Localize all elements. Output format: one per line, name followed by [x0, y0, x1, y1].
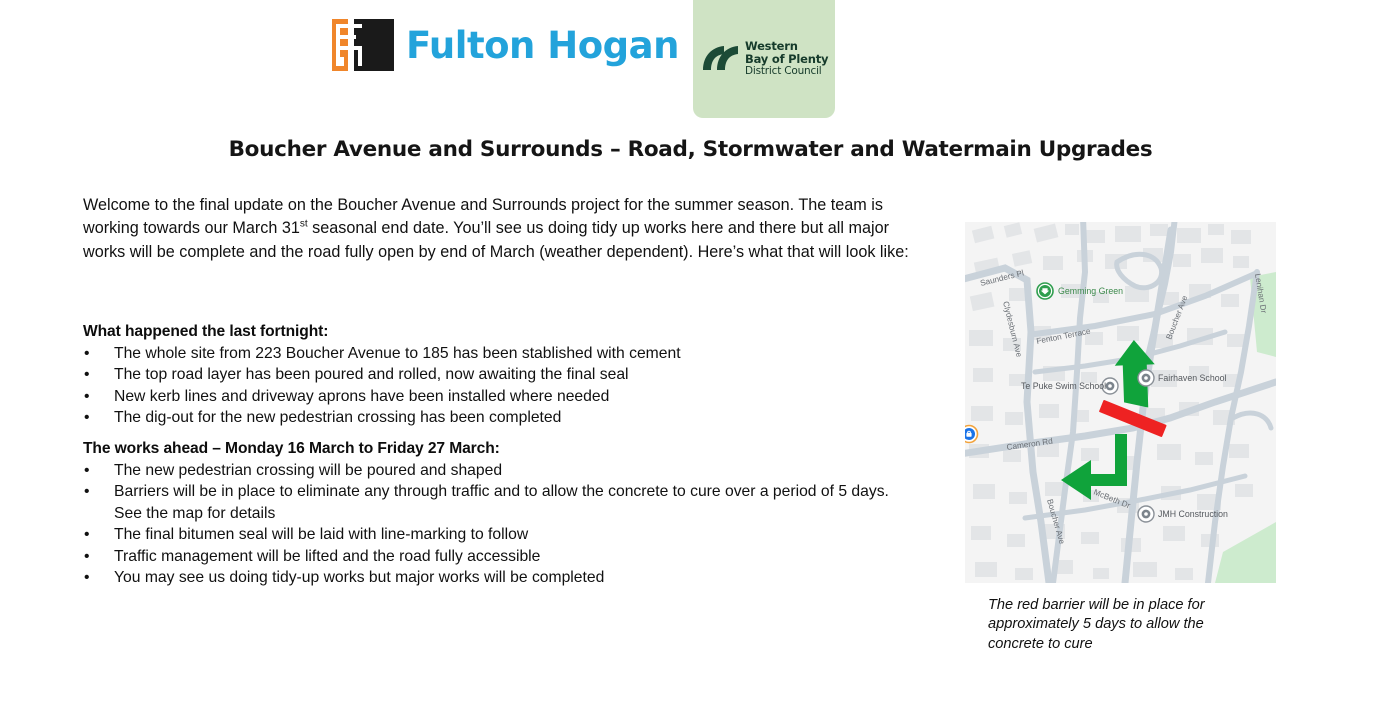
fulton-hogan-monogram-icon: [332, 19, 394, 71]
list-item-text: The whole site from 223 Boucher Avenue t…: [114, 345, 681, 362]
bullet-icon: •: [84, 481, 94, 502]
list-item: • New kerb lines and driveway aprons hav…: [83, 386, 911, 407]
map-graphic: Saunders Pl Clydesburn Ave Fenton Terrac…: [965, 222, 1276, 583]
logo-header: Fulton Hogan Western Bay of Plenty Distr…: [0, 0, 1381, 120]
list-item: • Traffic management will be lifted and …: [83, 546, 911, 567]
list-item-text: Barriers will be in place to eliminate a…: [114, 483, 889, 521]
fulton-hogan-logo: Fulton Hogan: [332, 18, 679, 72]
section-heading: What happened the last fortnight:: [83, 323, 911, 341]
intro-ordinal-suffix: st: [300, 219, 308, 230]
list-item-text: The dig-out for the new pedestrian cross…: [114, 409, 561, 426]
poi-label: Fairhaven School: [1158, 373, 1227, 383]
list-item: • The top road layer has been poured and…: [83, 364, 911, 385]
document-page: Fulton Hogan Western Bay of Plenty Distr…: [0, 0, 1381, 711]
bullet-icon: •: [84, 343, 94, 364]
poi-label: Gemming Green: [1058, 286, 1123, 296]
detour-map: Saunders Pl Clydesburn Ave Fenton Terrac…: [965, 222, 1276, 583]
map-caption: The red barrier will be in place for app…: [988, 596, 1248, 654]
section-last-fortnight: What happened the last fortnight: • The …: [83, 323, 911, 429]
list-item: • The final bitumen seal will be laid wi…: [83, 524, 911, 545]
double-chevron-icon: [701, 44, 739, 74]
body-content: Welcome to the final update on the Bouch…: [83, 194, 911, 264]
section-heading: The works ahead – Monday 16 March to Fri…: [83, 440, 911, 458]
bullet-icon: •: [84, 407, 94, 428]
bullet-icon: •: [84, 546, 94, 567]
list-item-text: Traffic management will be lifted and th…: [114, 548, 540, 565]
business-marker: [1138, 506, 1154, 522]
list-item-text: New kerb lines and driveway aprons have …: [114, 388, 609, 405]
poi-label: JMH Construction: [1158, 509, 1228, 519]
list-item: • Barriers will be in place to eliminate…: [83, 481, 911, 524]
poi-label: Te Puke Swim School: [1021, 381, 1106, 391]
list-item: • The dig-out for the new pedestrian cro…: [83, 407, 911, 428]
list-item-text: The top road layer has been poured and r…: [114, 366, 629, 383]
list-item: • The whole site from 223 Boucher Avenue…: [83, 343, 911, 364]
bullet-icon: •: [84, 524, 94, 545]
list-item: • You may see us doing tidy-up works but…: [83, 567, 911, 588]
bullet-list: • The new pedestrian crossing will be po…: [83, 460, 911, 589]
council-wordmark: Western Bay of Plenty District Council: [745, 40, 828, 78]
list-item-text: You may see us doing tidy-up works but m…: [114, 569, 604, 586]
bullet-icon: •: [84, 386, 94, 407]
bullet-icon: •: [84, 364, 94, 385]
council-line-3: District Council: [745, 66, 828, 78]
school-marker: [1138, 370, 1154, 386]
list-item: • The new pedestrian crossing will be po…: [83, 460, 911, 481]
intro-paragraph: Welcome to the final update on the Bouch…: [83, 194, 911, 264]
list-item-text: The final bitumen seal will be laid with…: [114, 526, 528, 543]
bank-marker: [965, 426, 978, 443]
western-bay-of-plenty-logo: Western Bay of Plenty District Council: [693, 0, 835, 118]
bullet-list: • The whole site from 223 Boucher Avenue…: [83, 343, 911, 429]
list-item-text: The new pedestrian crossing will be pour…: [114, 462, 502, 479]
bullet-icon: •: [84, 567, 94, 588]
page-title: Boucher Avenue and Surrounds – Road, Sto…: [0, 137, 1381, 162]
bullet-icon: •: [84, 460, 94, 481]
park-marker: [1037, 283, 1053, 299]
fulton-hogan-wordmark: Fulton Hogan: [406, 27, 679, 64]
section-works-ahead: The works ahead – Monday 16 March to Fri…: [83, 440, 911, 589]
